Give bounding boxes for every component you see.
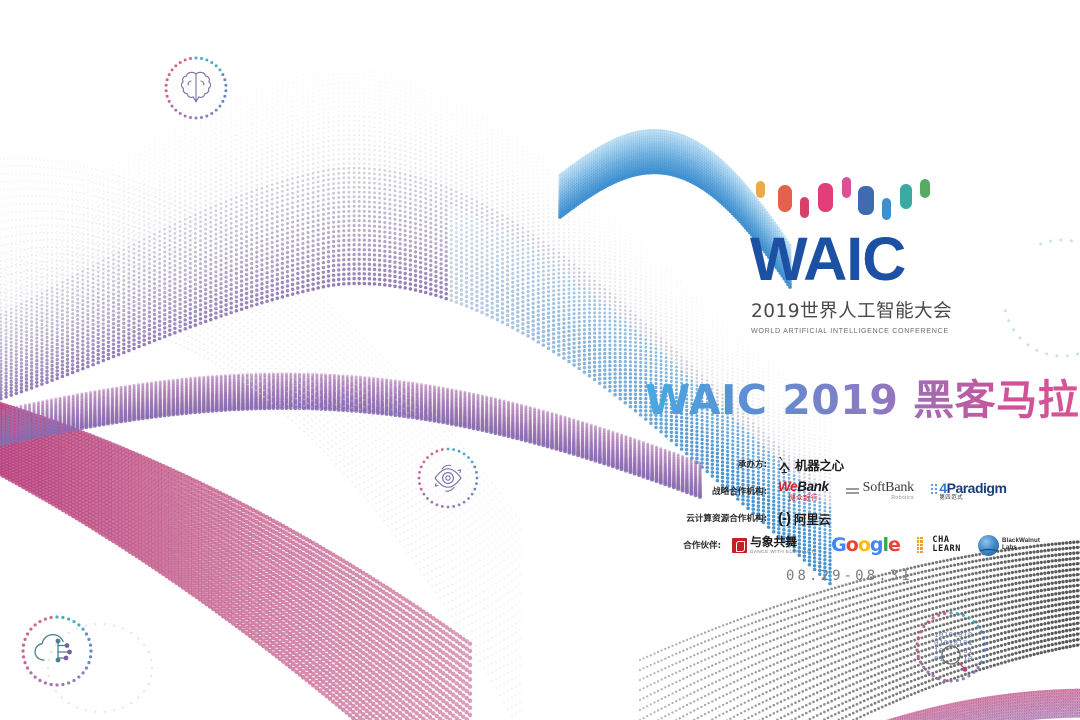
softbank-wordmark: SoftBank: [863, 481, 914, 495]
logo-bar-8: [920, 179, 930, 198]
waic-logo: WAIC 2019世界人工智能大会 WORLD ARTIFICIAL INTEL…: [748, 175, 934, 335]
logo-bar-3: [818, 183, 833, 212]
logo-bar-7: [900, 184, 912, 209]
eye-icon: [412, 442, 484, 514]
synced-mark-icon: [778, 456, 791, 473]
cloud-icon: [14, 608, 100, 694]
paradigm-mark-icon: [931, 481, 937, 494]
sponsor-row-cloud: 云计算资源合作机构: (-) 阿里云: [640, 506, 1040, 530]
webank-label-cn: 微众银行: [789, 495, 819, 502]
softbank-mark-icon: [846, 488, 859, 495]
logo-bar-6: [882, 198, 891, 220]
sponsor-logo-4paradigm[interactable]: 4Paradigm 第四范式: [931, 481, 1006, 502]
sponsor-label: 合作伙伴:: [640, 539, 732, 551]
sponsor-logo-elephant[interactable]: 与象共舞 DANCE WITH ELEPHANT: [732, 536, 814, 555]
waic-subtitle-cn: 2019世界人工智能大会: [751, 297, 934, 323]
sponsor-logo-google[interactable]: Google: [831, 534, 900, 556]
synced-label: 机器之心: [795, 455, 844, 474]
aliyun-mark-icon: (-): [778, 510, 790, 527]
google-wordmark: Google: [831, 534, 900, 556]
elephant-sub: DANCE WITH ELEPHANT: [750, 550, 814, 555]
sponsor-logo-chalearn[interactable]: CHA LEARN: [917, 536, 961, 554]
elephant-label: 与象共舞: [750, 536, 814, 548]
softbank-sub: Robotics: [863, 496, 914, 501]
event-date: 08.29-08.31: [786, 568, 913, 584]
aliyun-label: 阿里云: [794, 509, 831, 528]
logo-bar-0: [756, 181, 765, 198]
sponsor-logo-blackwalnut[interactable]: BlackWalnut Labs: [978, 535, 1040, 556]
waic-subtitle-en: WORLD ARTIFICIAL INTELLIGENCE CONFERENCE: [751, 326, 934, 335]
paradigm-sub: 第四范式: [939, 496, 1006, 501]
sponsor-row-partners: 合作伙伴: 与象共舞 DANCE WITH ELEPHANT Google CH…: [640, 533, 1040, 557]
waic-wordmark: WAIC: [750, 229, 934, 290]
paradigm-wordmark: 4Paradigm: [939, 481, 1006, 495]
sponsor-row-strategic: 战略合作机构: WeBank 微众银行 SoftBank Robotics: [640, 479, 1040, 503]
sponsor-label: 承办方:: [640, 458, 778, 470]
sponsor-label: 云计算资源合作机构:: [640, 512, 778, 524]
logo-bar-2: [800, 197, 809, 218]
elephant-mark-icon: [732, 538, 747, 553]
logo-bar-4: [842, 177, 851, 198]
webank-wordmark: WeBank: [778, 480, 829, 494]
brain-icon: [160, 52, 232, 124]
chalearn-line2: LEARN: [932, 545, 961, 554]
blackwalnut-line2: Labs: [1002, 545, 1040, 552]
binary-data-icon: 10101010 01010101 10 01 01 10: [908, 604, 994, 690]
chalearn-mark-icon: [917, 537, 929, 553]
page-title: WAIC 2019 黑客马拉松: [645, 366, 1080, 426]
blackwalnut-mark-icon: [978, 535, 999, 556]
logo-bar-1: [778, 185, 792, 212]
waic-hackathon-poster: 10101010 01010101 10 01 01 10 WAIC 2019世…: [0, 0, 1080, 720]
waic-logo-bars: [754, 175, 930, 227]
sponsor-logo-softbank[interactable]: SoftBank Robotics: [846, 481, 914, 501]
sponsor-logo-webank[interactable]: WeBank 微众银行: [778, 480, 829, 502]
sponsor-block: 承办方: 机器之心 战略合作机构: WeBank: [640, 452, 1040, 560]
sponsor-label: 战略合作机构:: [640, 485, 778, 497]
logo-bar-5: [858, 186, 874, 215]
sponsor-logo-synced[interactable]: 机器之心: [778, 455, 844, 474]
sponsor-logo-aliyun[interactable]: (-) 阿里云: [778, 509, 831, 528]
sponsor-row-organizer: 承办方: 机器之心: [640, 452, 1040, 476]
